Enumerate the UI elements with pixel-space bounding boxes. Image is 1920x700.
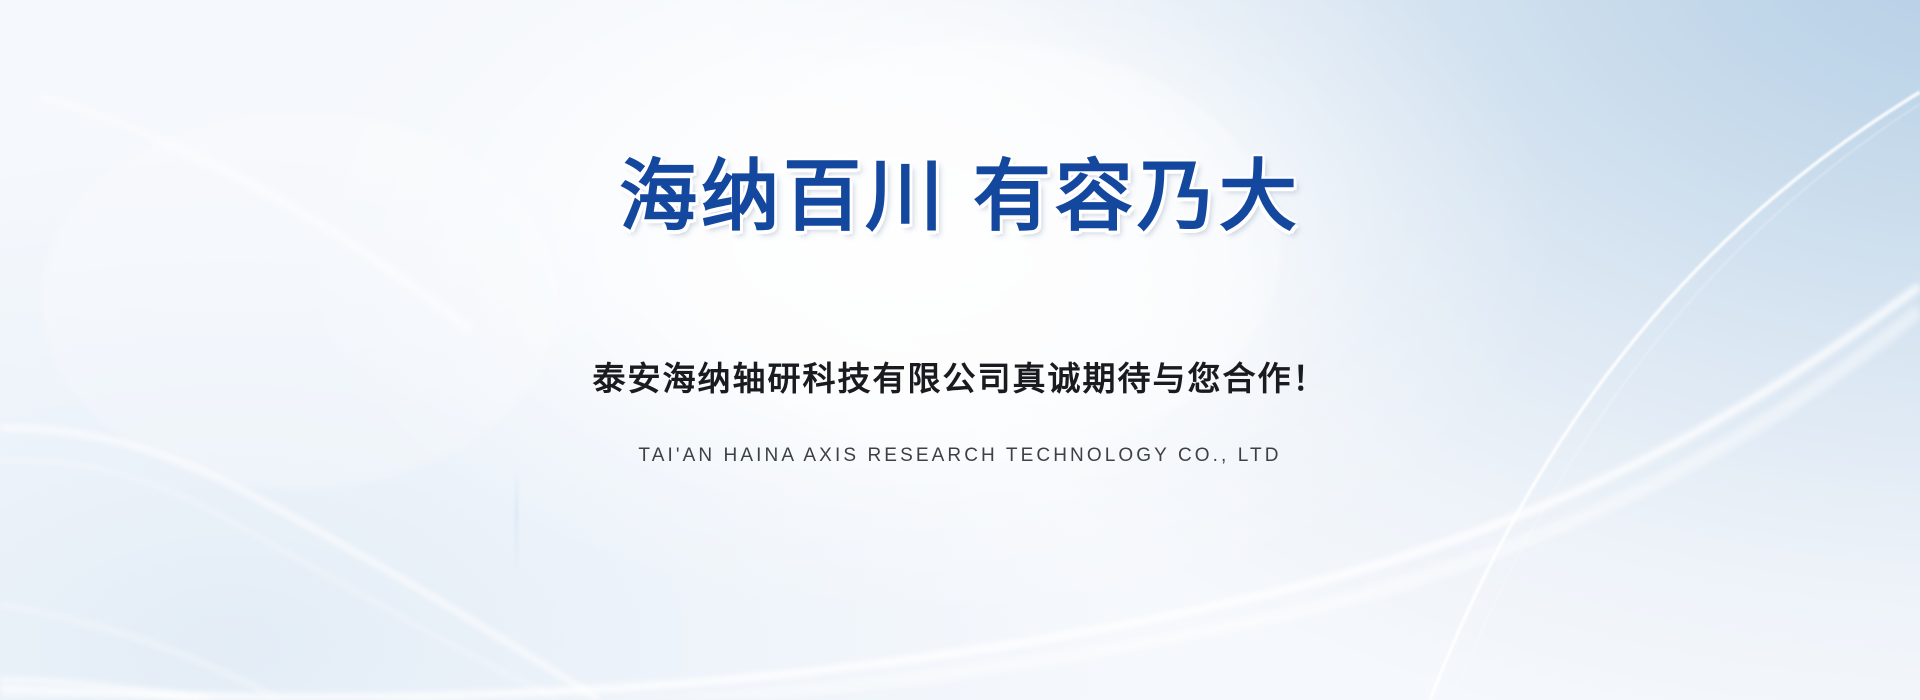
banner-subtitle-chinese: 泰安海纳轴研科技有限公司真诚期待与您合作！ (593, 358, 1328, 399)
banner-subtitle-english: TAI'AN HAINA AXIS RESEARCH TECHNOLOGY CO… (638, 444, 1281, 469)
hero-banner: 海纳百川 有容乃大 泰安海纳轴研科技有限公司真诚期待与您合作！ TAI'AN H… (0, 0, 1920, 700)
banner-headline: 海纳百川 有容乃大 (619, 155, 1301, 238)
banner-content: 海纳百川 有容乃大 泰安海纳轴研科技有限公司真诚期待与您合作！ TAI'AN H… (0, 0, 1920, 700)
